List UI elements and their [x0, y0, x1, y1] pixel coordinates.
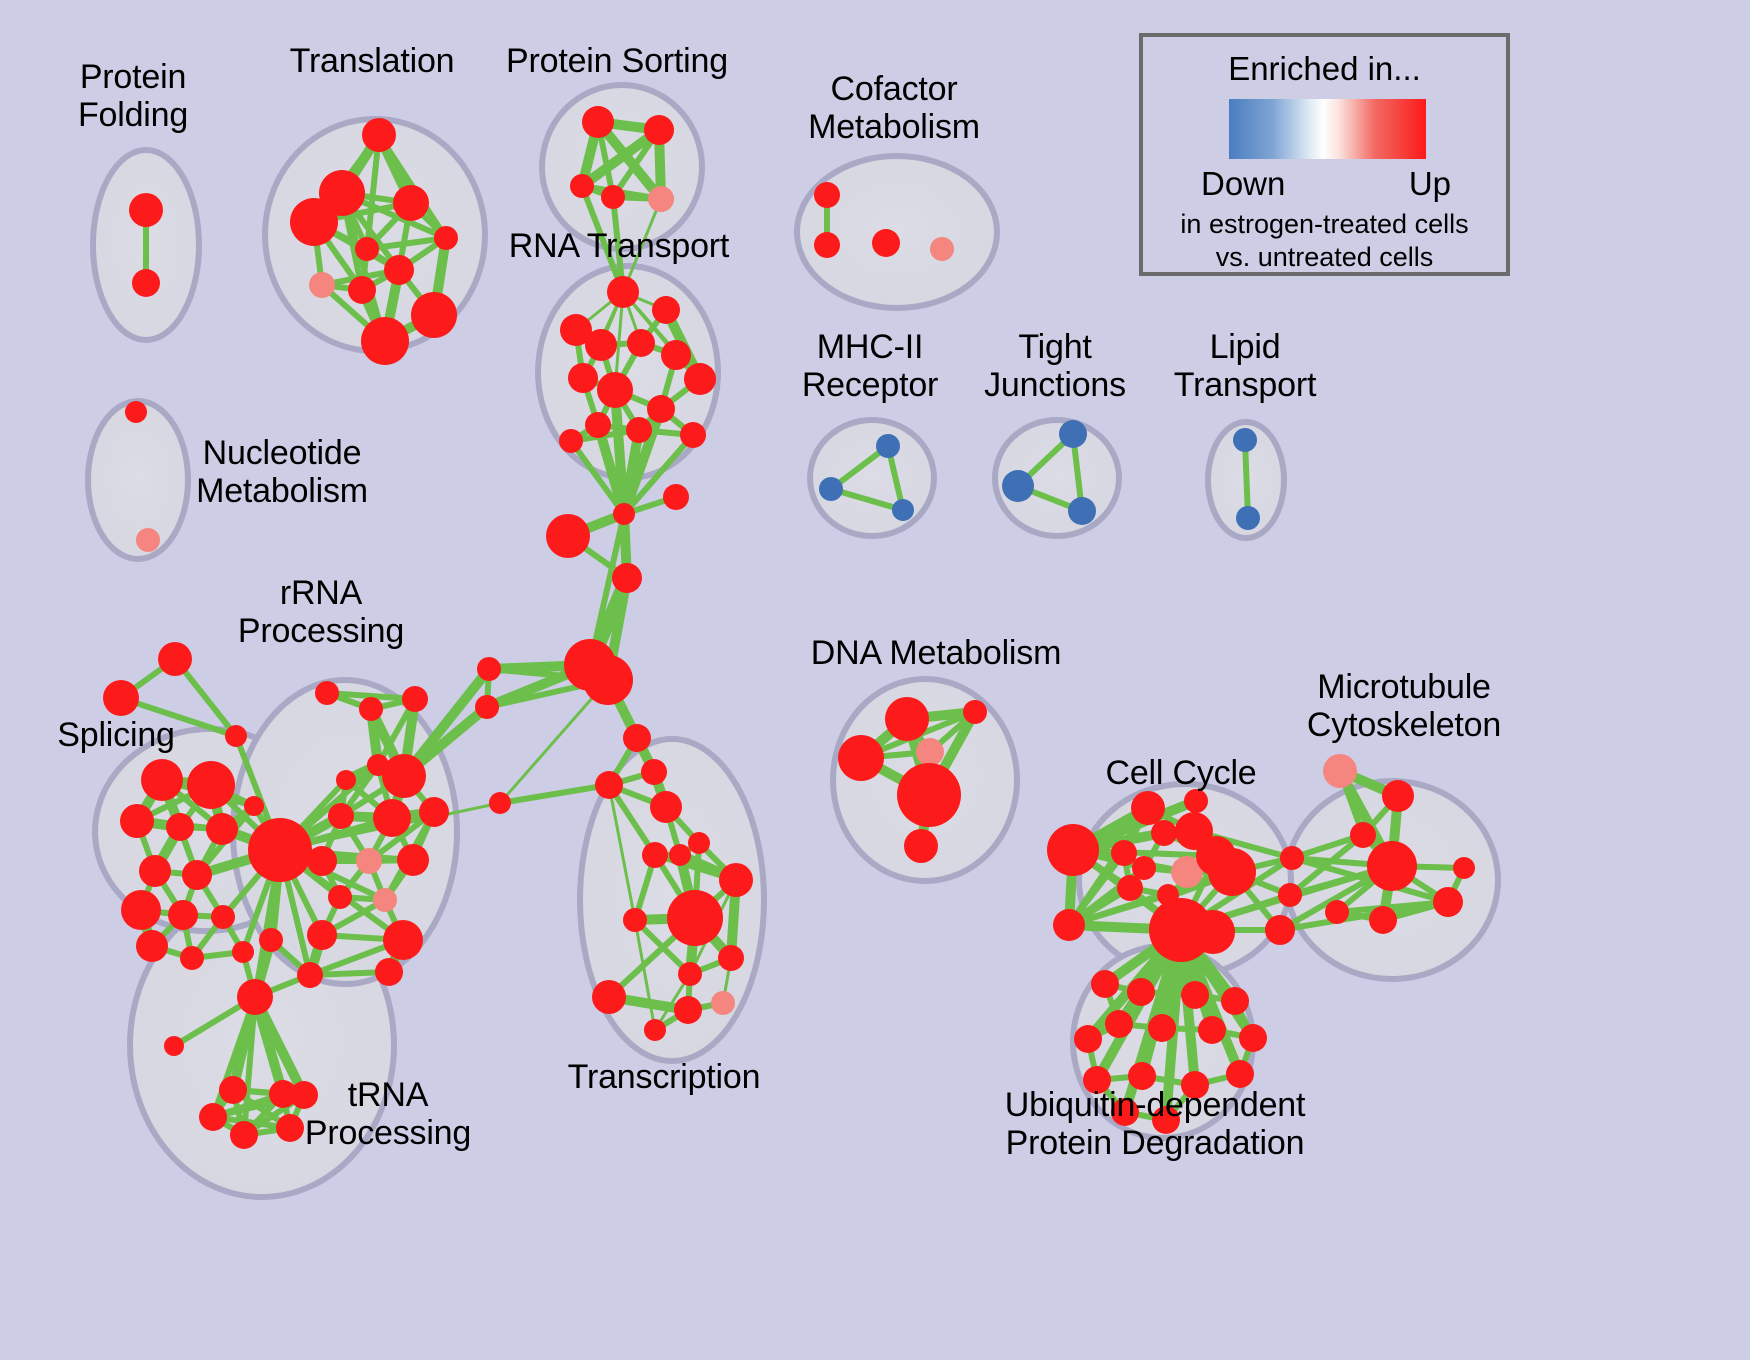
node	[680, 422, 706, 448]
node	[328, 885, 352, 909]
network-figure: .hull{fill:url(#cg);stroke:#a9a9c6;strok…	[0, 0, 1750, 1360]
node	[669, 844, 691, 866]
node	[297, 962, 323, 988]
node	[139, 855, 171, 887]
node	[711, 991, 735, 1015]
node	[688, 832, 710, 854]
legend-high-label: Up	[1409, 165, 1451, 203]
node	[168, 900, 198, 930]
node	[623, 724, 651, 752]
node	[626, 417, 652, 443]
node	[601, 185, 625, 209]
node	[1236, 506, 1260, 530]
node	[876, 434, 900, 458]
node	[1002, 470, 1034, 502]
node	[650, 791, 682, 823]
node	[684, 363, 716, 395]
cluster-label-protein-folding: Protein Folding	[78, 58, 188, 134]
node	[136, 930, 168, 962]
node	[103, 680, 139, 716]
node	[402, 686, 428, 712]
cluster-label-transcription: Transcription	[568, 1058, 761, 1096]
node	[814, 182, 840, 208]
node	[362, 118, 396, 152]
legend-title: Enriched in...	[1143, 50, 1506, 88]
node	[1053, 909, 1085, 941]
node	[141, 759, 183, 801]
node	[1280, 846, 1304, 870]
cluster-label-microtubule: Microtubule Cytoskeleton	[1307, 668, 1501, 744]
legend-caption-line1: in estrogen-treated cells	[1143, 209, 1506, 240]
node	[644, 115, 674, 145]
node	[623, 908, 647, 932]
node	[489, 792, 511, 814]
node	[1111, 840, 1137, 866]
legend-color-bar	[1229, 99, 1426, 159]
node	[206, 813, 238, 845]
node	[718, 945, 744, 971]
cluster-label-dna-metabolism: DNA Metabolism	[811, 634, 1061, 672]
node	[963, 700, 987, 724]
node	[199, 1103, 227, 1131]
node	[1233, 428, 1257, 452]
node	[1191, 910, 1235, 954]
node	[290, 198, 338, 246]
node	[1091, 970, 1119, 998]
node	[164, 1036, 184, 1056]
node	[583, 655, 633, 705]
node	[607, 276, 639, 308]
node	[237, 979, 273, 1015]
node	[1131, 791, 1165, 825]
node	[661, 340, 691, 370]
node	[1148, 1014, 1176, 1042]
node	[648, 186, 674, 212]
node	[1221, 987, 1249, 1015]
node	[244, 796, 264, 816]
node	[232, 941, 254, 963]
node	[667, 890, 723, 946]
node	[1184, 789, 1208, 813]
node	[904, 829, 938, 863]
cluster-label-cofactor-metabolism: Cofactor Metabolism	[808, 70, 980, 146]
node	[1265, 915, 1295, 945]
node	[644, 1019, 666, 1041]
node	[678, 962, 702, 986]
node	[1127, 978, 1155, 1006]
node	[328, 803, 354, 829]
node	[613, 503, 635, 525]
node	[674, 996, 702, 1024]
node	[180, 946, 204, 970]
cluster-label-lipid-transport: Lipid Transport	[1174, 328, 1316, 404]
node	[1151, 820, 1177, 846]
node	[916, 738, 944, 766]
cluster-label-mhc-ii-receptor: MHC-II Receptor	[802, 328, 938, 404]
node	[121, 890, 161, 930]
node	[397, 844, 429, 876]
node	[309, 272, 335, 298]
node	[546, 514, 590, 558]
node	[411, 292, 457, 338]
node	[1323, 754, 1357, 788]
node	[814, 232, 840, 258]
node	[136, 528, 160, 552]
node	[595, 771, 623, 799]
node	[570, 174, 594, 198]
node	[1367, 841, 1417, 891]
node	[225, 725, 247, 747]
node	[375, 958, 403, 986]
node	[612, 563, 642, 593]
node	[1226, 1060, 1254, 1088]
node	[315, 681, 339, 705]
node	[187, 761, 235, 809]
node	[582, 106, 614, 138]
node	[1325, 900, 1349, 924]
node	[211, 905, 235, 929]
node	[585, 412, 611, 438]
node	[597, 372, 633, 408]
hull-protein-sorting	[542, 85, 702, 249]
node	[1382, 780, 1414, 812]
node	[307, 920, 337, 950]
node	[838, 735, 884, 781]
node	[477, 657, 501, 681]
node	[585, 329, 617, 361]
cluster-label-trna-processing: tRNA Processing	[305, 1076, 471, 1152]
cluster-label-cell-cycle: Cell Cycle	[1105, 754, 1256, 792]
node	[356, 848, 382, 874]
node	[259, 928, 283, 952]
node	[120, 804, 154, 838]
node	[373, 799, 411, 837]
node	[1117, 875, 1143, 901]
node	[355, 237, 379, 261]
node	[642, 842, 668, 868]
node	[1433, 887, 1463, 917]
node	[359, 697, 383, 721]
node	[1208, 848, 1256, 896]
node	[125, 401, 147, 423]
node	[182, 860, 212, 890]
node	[158, 642, 192, 676]
node	[1453, 857, 1475, 879]
node	[627, 329, 655, 357]
node	[719, 863, 753, 897]
node	[1059, 420, 1087, 448]
node	[348, 276, 376, 304]
cluster-label-rrna-processing: rRNA Processing	[238, 574, 404, 650]
node	[1105, 1010, 1133, 1038]
node	[132, 269, 160, 297]
node	[166, 813, 194, 841]
node	[1047, 824, 1099, 876]
node	[1350, 822, 1376, 848]
node	[434, 226, 458, 250]
node	[336, 770, 356, 790]
node	[219, 1076, 247, 1104]
node	[663, 484, 689, 510]
cluster-label-translation: Translation	[290, 42, 455, 80]
node	[393, 185, 429, 221]
node	[892, 499, 914, 521]
node	[373, 888, 397, 912]
node	[230, 1121, 258, 1149]
node	[1239, 1024, 1267, 1052]
node	[1068, 497, 1096, 525]
node	[647, 395, 675, 423]
legend-low-label: Down	[1201, 165, 1285, 203]
cluster-label-splicing: Splicing	[57, 716, 174, 754]
node	[930, 237, 954, 261]
node	[383, 920, 423, 960]
node	[568, 363, 598, 393]
cluster-label-rna-transport: RNA Transport	[509, 227, 729, 265]
node	[361, 317, 409, 365]
node	[897, 763, 961, 827]
cluster-label-protein-sorting: Protein Sorting	[506, 42, 728, 80]
node	[592, 980, 626, 1014]
node	[1369, 906, 1397, 934]
node	[819, 477, 843, 501]
node	[559, 429, 583, 453]
node	[129, 193, 163, 227]
legend-panel: Enriched in... Down Up in estrogen-treat…	[1139, 33, 1510, 276]
node	[384, 255, 414, 285]
cluster-label-nucleotide-metabolism: Nucleotide Metabolism	[196, 434, 368, 510]
node	[641, 759, 667, 785]
node	[652, 296, 680, 324]
node	[248, 818, 312, 882]
node	[872, 229, 900, 257]
node	[1181, 981, 1209, 1009]
node	[1278, 883, 1302, 907]
node	[419, 797, 449, 827]
legend-caption-line2: vs. untreated cells	[1143, 242, 1506, 273]
cluster-label-ubiquitin: Ubiquitin-dependent Protein Degradation	[1005, 1086, 1306, 1162]
node	[382, 754, 426, 798]
node	[475, 695, 499, 719]
node	[1198, 1016, 1226, 1044]
cluster-label-tight-junctions: Tight Junctions	[984, 328, 1126, 404]
node	[276, 1114, 304, 1142]
node	[1074, 1025, 1102, 1053]
node	[885, 697, 929, 741]
